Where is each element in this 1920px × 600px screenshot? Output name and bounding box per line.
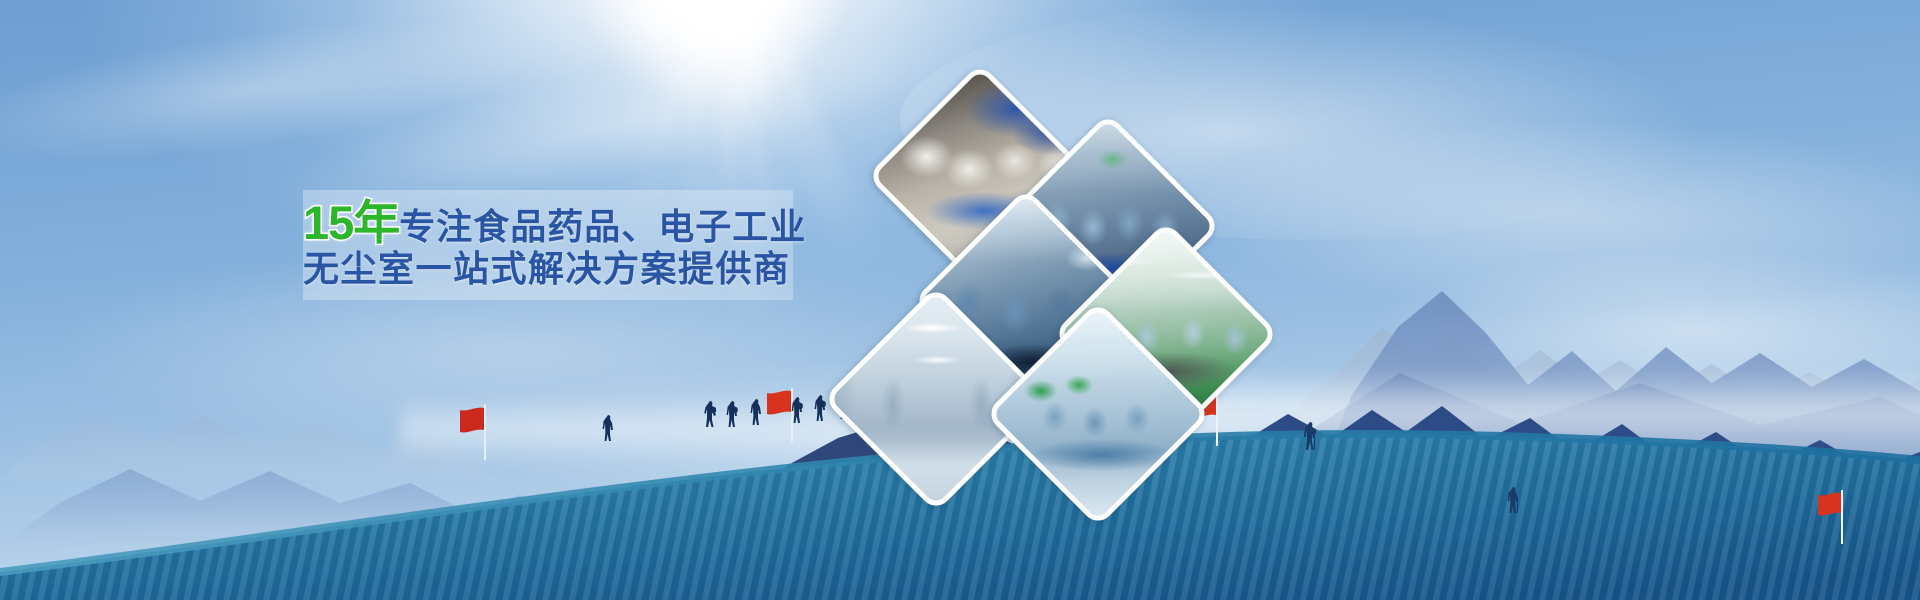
sun-glow — [585, 0, 845, 110]
years-number: 15年 — [303, 196, 399, 249]
headline-line-1-rest: 专注食品药品、电子工业 — [399, 206, 806, 247]
cloud-wisp — [0, 0, 565, 193]
headline-block: 15年专注食品药品、电子工业 无尘室一站式解决方案提供商 — [303, 196, 823, 300]
flag-far-right — [1812, 490, 1856, 544]
headline-line-1: 15年专注食品药品、电子工业 — [303, 196, 823, 248]
climber-12 — [1506, 486, 1522, 514]
headline-line-2: 无尘室一站式解决方案提供商 — [303, 248, 823, 300]
cleanroom-photo-collage — [838, 86, 1278, 468]
cloud-bank — [1180, 120, 1920, 310]
hero-banner: 15年专注食品药品、电子工业 无尘室一站式解决方案提供商 — [0, 0, 1920, 600]
